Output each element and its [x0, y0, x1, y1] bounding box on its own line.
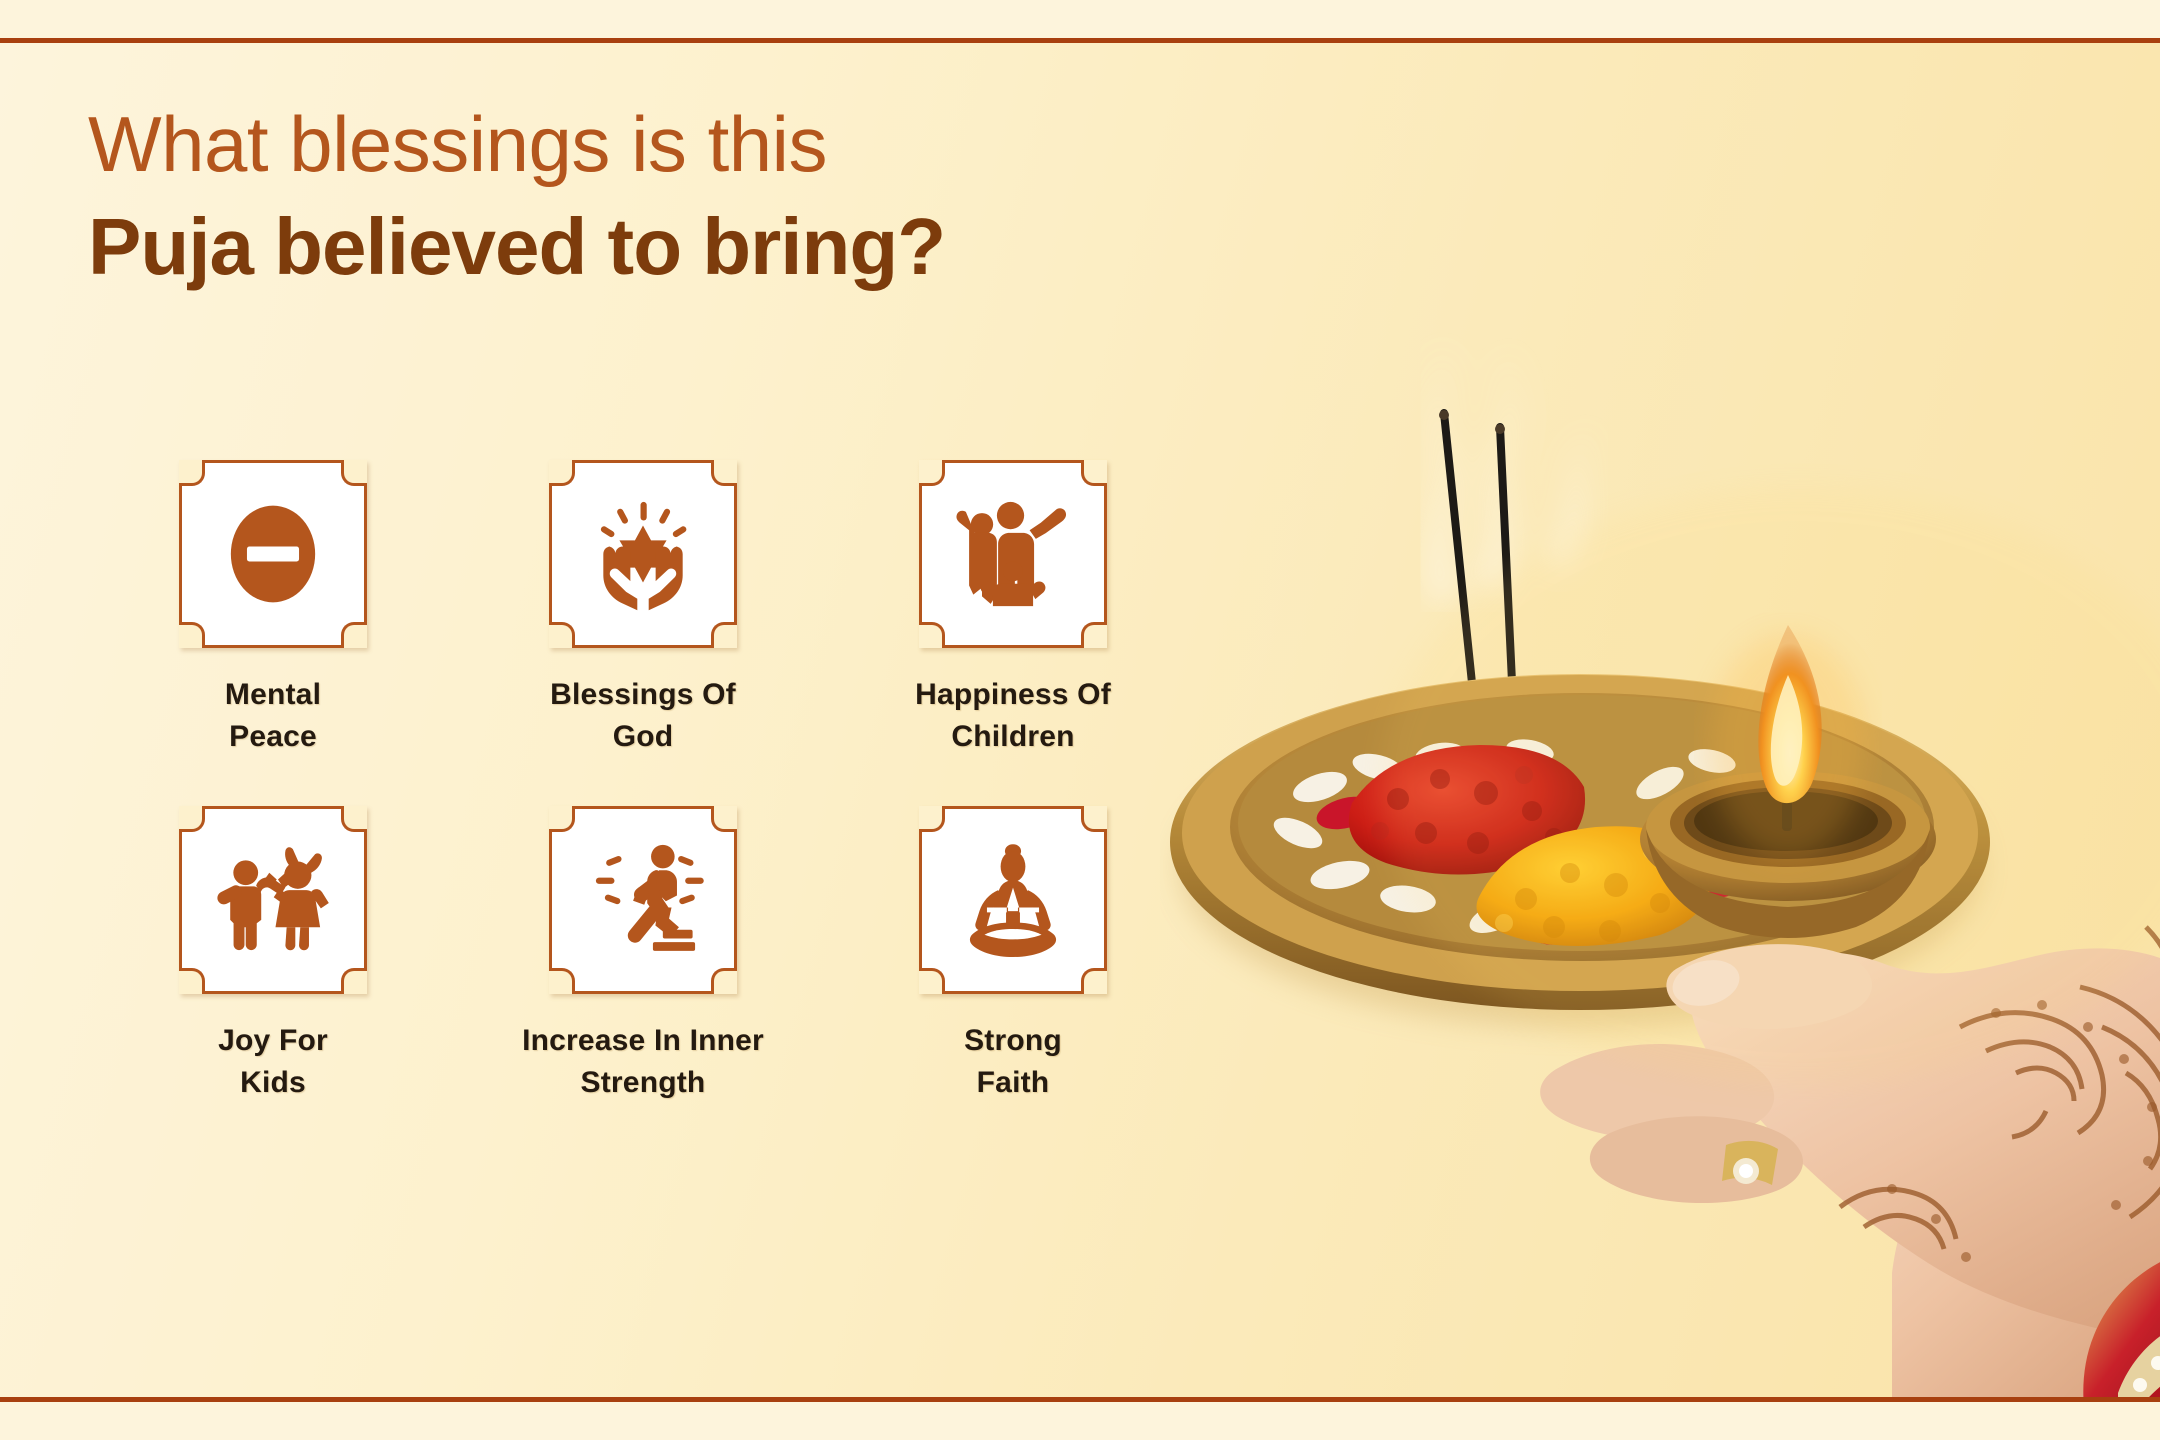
corner-notch-top-left [549, 460, 575, 486]
corner-notch-bottom-left [549, 622, 575, 648]
corner-notch-top-right [711, 460, 737, 486]
blessing-hands-icon [581, 492, 705, 616]
benefit-item-increase-in-inner-strength: Increase In Inner Strength [458, 806, 828, 1104]
corner-notch-bottom-left [179, 622, 205, 648]
icon-card [179, 806, 367, 994]
corner-notch-bottom-left [549, 968, 575, 994]
icon-card [549, 460, 737, 648]
corner-notch-bottom-right [1081, 622, 1107, 648]
meditation-icon [951, 838, 1075, 962]
top-margin [0, 0, 2160, 38]
corner-notch-top-left [549, 806, 575, 832]
benefit-label-line-2: Peace [229, 720, 317, 753]
icon-card [919, 806, 1107, 994]
corner-notch-top-right [341, 460, 367, 486]
corner-notch-bottom-right [341, 622, 367, 648]
corner-notch-bottom-right [711, 622, 737, 648]
corner-notch-top-left [919, 460, 945, 486]
corner-notch-top-right [341, 806, 367, 832]
benefit-label-line-1: Mental [225, 678, 321, 711]
poster-canvas: What blessings is this Puja believed to … [0, 0, 2160, 1440]
benefit-label-line-1: Happiness Of [915, 678, 1111, 711]
benefit-label: Increase In Inner Strength [522, 1020, 764, 1104]
benefit-label-line-1: Increase In Inner [522, 1024, 764, 1057]
icon-card [549, 806, 737, 994]
benefit-label: Joy For Kids [218, 1020, 328, 1104]
benefit-label-line-1: Joy For [218, 1024, 328, 1057]
benefits-grid: Mental Peace [88, 460, 1198, 1104]
corner-notch-bottom-right [1081, 968, 1107, 994]
corner-notch-bottom-right [341, 968, 367, 994]
benefit-item-strong-faith: Strong Faith [828, 806, 1198, 1104]
benefit-item-mental-peace: Mental Peace [88, 460, 458, 758]
benefit-label-line-2: Faith [977, 1066, 1050, 1099]
corner-notch-top-right [1081, 806, 1107, 832]
puja-thali-illustration [1160, 227, 2160, 1397]
playing-children-icon [211, 838, 335, 962]
benefit-item-joy-for-kids: Joy For Kids [88, 806, 458, 1104]
corner-notch-bottom-left [179, 968, 205, 994]
bottom-margin [0, 1402, 2160, 1440]
corner-notch-top-right [711, 806, 737, 832]
benefit-label-line-1: Blessings Of [550, 678, 736, 711]
benefit-label-line-2: Children [951, 720, 1074, 753]
happy-family-icon [951, 492, 1075, 616]
benefit-label-line-2: God [613, 720, 674, 753]
corner-notch-top-left [919, 806, 945, 832]
corner-notch-bottom-left [919, 622, 945, 648]
heading-line-1: What blessings is this [88, 96, 1188, 192]
benefit-label-line-2: Kids [240, 1066, 306, 1099]
heading-block: What blessings is this Puja believed to … [88, 96, 1188, 296]
corner-notch-top-right [1081, 460, 1107, 486]
icon-card [919, 460, 1107, 648]
heading-line-2: Puja believed to bring? [88, 198, 1188, 296]
no-stress-icon [211, 492, 335, 616]
corner-notch-bottom-left [919, 968, 945, 994]
benefit-label-line-1: Strong [964, 1024, 1062, 1057]
step-up-person-icon [581, 838, 705, 962]
benefit-label: Blessings Of God [550, 674, 736, 758]
icon-card [179, 460, 367, 648]
corner-notch-top-left [179, 806, 205, 832]
benefit-label: Strong Faith [964, 1020, 1062, 1104]
finger-ring [1722, 1141, 1778, 1185]
benefit-label-line-2: Strength [581, 1066, 706, 1099]
puja-thali-in-hand-photo [1160, 43, 2160, 1397]
benefit-item-happiness-of-children: Happiness Of Children [828, 460, 1198, 758]
corner-notch-top-left [179, 460, 205, 486]
benefit-label: Mental Peace [225, 674, 321, 758]
corner-notch-bottom-right [711, 968, 737, 994]
benefit-label: Happiness Of Children [915, 674, 1111, 758]
benefit-item-blessings-of-god: Blessings Of God [458, 460, 828, 758]
